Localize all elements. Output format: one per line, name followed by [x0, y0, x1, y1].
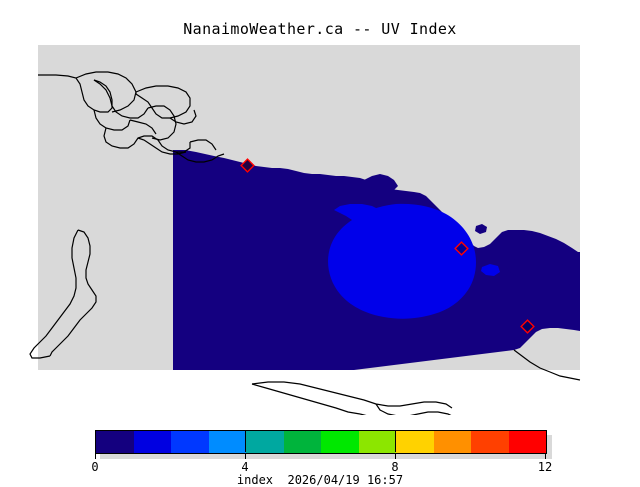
- colorbar-label-4: 4: [241, 460, 248, 474]
- colorbar[interactable]: 04812 index 2026/04/19 16:57: [0, 424, 640, 480]
- colorbar-tick-0: [95, 453, 96, 459]
- colorbar-segment-7-8[interactable]: [359, 431, 397, 453]
- map-canvas[interactable]: [0, 40, 640, 415]
- colorbar-segment-3-4[interactable]: [209, 431, 247, 453]
- uv-index-map-screenshot: NanaimoWeather.ca -- UV Index: [0, 0, 640, 480]
- colorbar-tick-4: [245, 453, 246, 459]
- colorbar-segment-6-7[interactable]: [321, 431, 359, 453]
- page-title: NanaimoWeather.ca -- UV Index: [0, 20, 640, 38]
- colorbar-label-12: 12: [538, 460, 552, 474]
- colorbar-segment-4-5[interactable]: [246, 431, 284, 453]
- colorbar-label-8: 8: [391, 460, 398, 474]
- colorbar-segment-0-1[interactable]: [96, 431, 134, 453]
- colorbar-segment-5-6[interactable]: [284, 431, 322, 453]
- colorbar-segment-11-12[interactable]: [509, 431, 547, 453]
- colorbar-segment-1-2[interactable]: [134, 431, 172, 453]
- colorbar-segment-2-3[interactable]: [171, 431, 209, 453]
- map-margin-mask-left: [0, 370, 38, 415]
- colorbar-tick-8: [395, 453, 396, 459]
- colorbar-strip[interactable]: [95, 430, 547, 454]
- colorbar-tick-inner-8: [395, 430, 396, 452]
- colorbar-label-0: 0: [91, 460, 98, 474]
- colorbar-segment-10-11[interactable]: [471, 431, 509, 453]
- colorbar-caption: index 2026/04/19 16:57: [0, 473, 640, 487]
- map-panel[interactable]: [0, 40, 640, 415]
- colorbar-segment-8-9[interactable]: [396, 431, 434, 453]
- colorbar-segment-9-10[interactable]: [434, 431, 472, 453]
- colorbar-tick-inner-4: [245, 430, 246, 452]
- colorbar-tick-12: [545, 453, 546, 459]
